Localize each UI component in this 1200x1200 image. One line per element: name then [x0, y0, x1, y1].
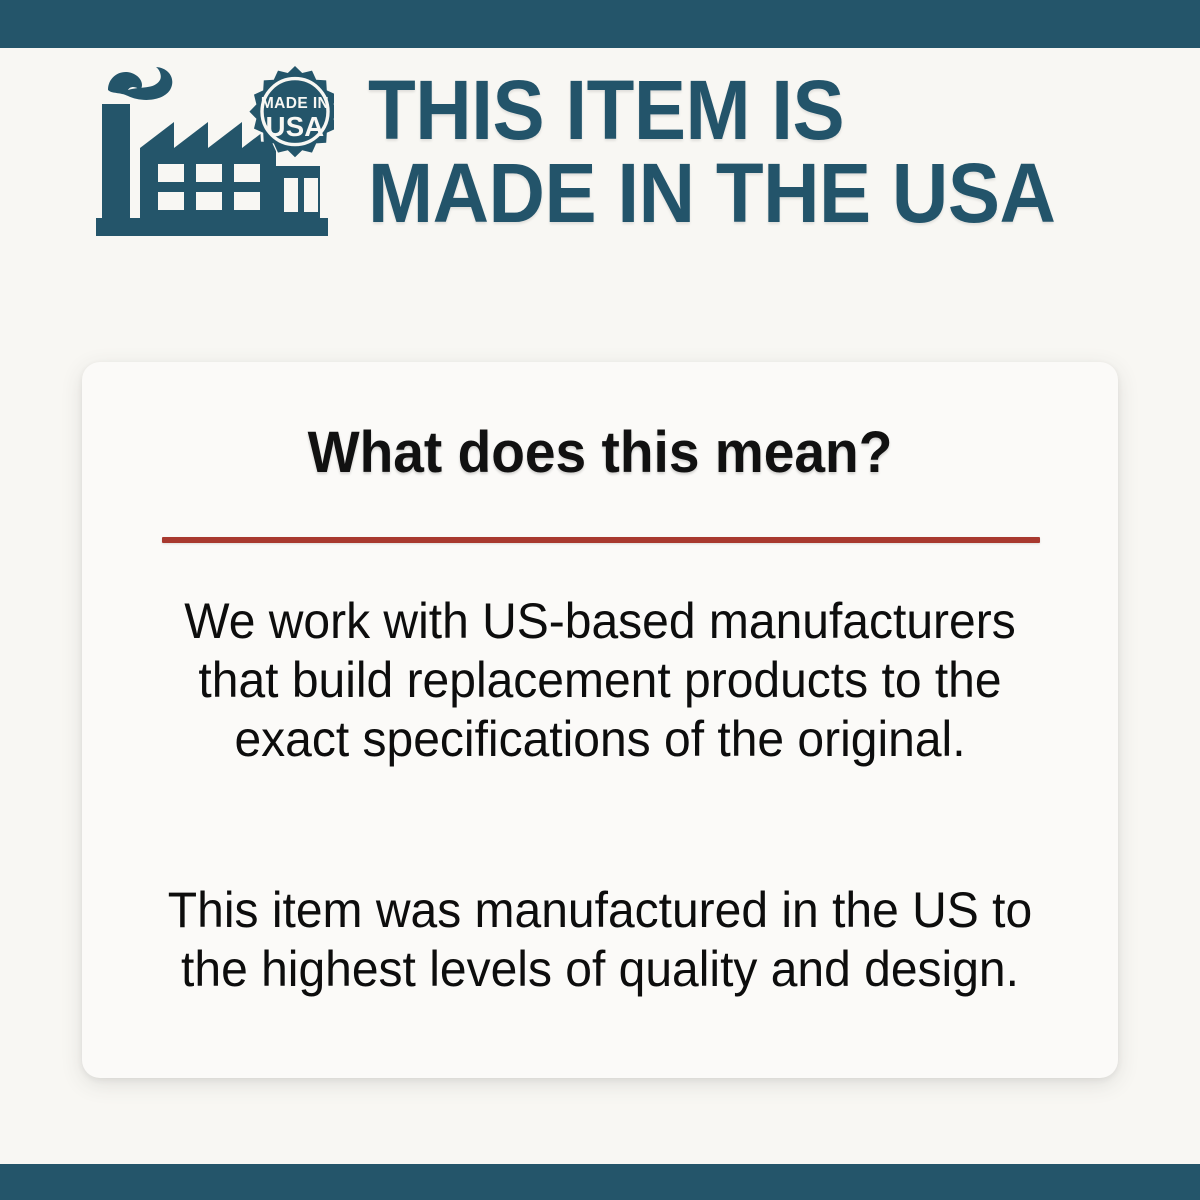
- card-paragraph-1: We work with US-based manufacturers that…: [145, 592, 1055, 769]
- bottom-brand-bar: [0, 1164, 1200, 1200]
- made-in-usa-logo: MADE IN USA: [96, 56, 334, 248]
- seal-usa-text: USA: [266, 111, 325, 142]
- card-divider: [162, 537, 1040, 543]
- seal-made-in-text: MADE IN: [261, 95, 329, 112]
- page-title-line-1: THIS ITEM IS: [368, 63, 844, 157]
- page-header: MADE IN USA THIS ITEM ISMADE IN THE USA: [96, 52, 1156, 252]
- factory-icon: MADE IN USA: [96, 56, 334, 248]
- page-title-line-2: MADE IN THE USA: [368, 146, 1055, 240]
- card-heading: What does this mean?: [108, 424, 1092, 482]
- top-brand-bar: [0, 0, 1200, 48]
- card-body: We work with US-based manufacturers that…: [126, 592, 1074, 999]
- info-card: What does this mean? We work with US-bas…: [82, 362, 1118, 1078]
- page-title: THIS ITEM ISMADE IN THE USA: [368, 69, 1055, 235]
- card-paragraph-2: This item was manufactured in the US to …: [145, 881, 1055, 999]
